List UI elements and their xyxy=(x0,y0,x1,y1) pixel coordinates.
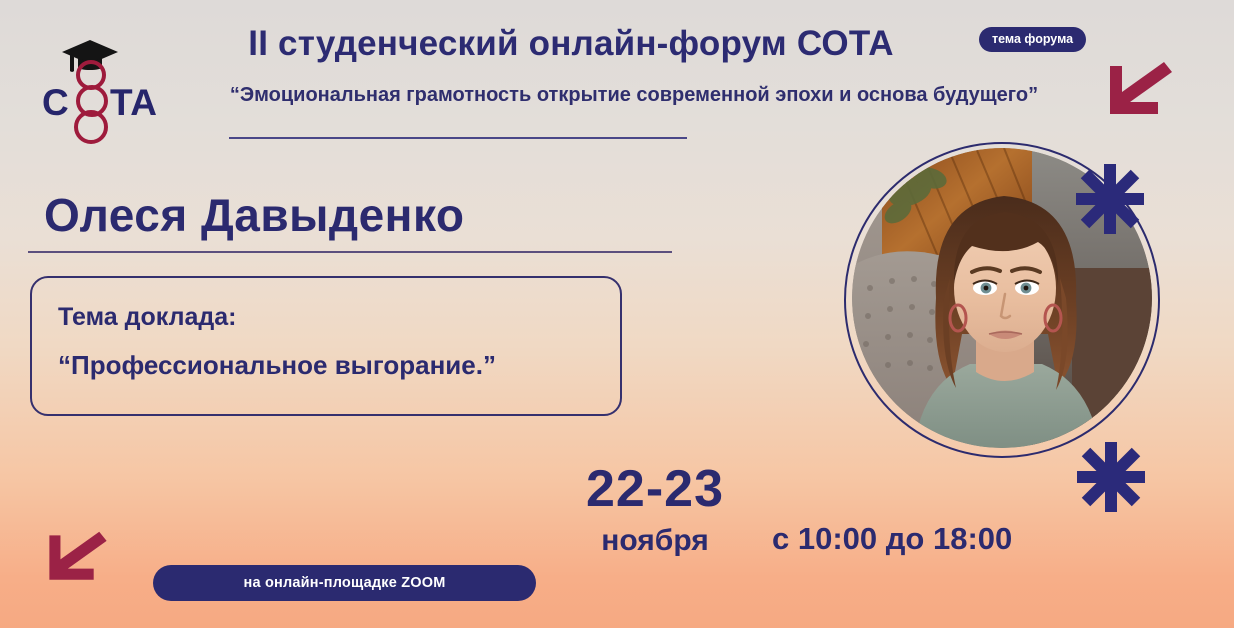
asterisk-icon-lower xyxy=(1073,438,1149,521)
talk-topic-label: Тема доклада: xyxy=(58,304,620,332)
asterisk-icon-upper xyxy=(1072,160,1148,243)
talk-topic-box: Тема доклада: “Профессиональное выгорани… xyxy=(30,276,622,416)
event-time: с 10:00 до 18:00 xyxy=(772,521,1012,557)
arrow-down-left-icon-bottom xyxy=(42,528,114,605)
speaker-divider xyxy=(28,251,672,253)
forum-title: II студенческий онлайн-форум СОТА xyxy=(176,24,966,64)
forum-topic-badge: тема форума xyxy=(979,27,1086,52)
speaker-name: Олеся Давыденко xyxy=(44,188,464,242)
event-month: ноября xyxy=(570,526,740,556)
talk-topic-value: “Профессиональное выгорание.” xyxy=(58,351,620,380)
logo-ring-bottom xyxy=(74,110,108,144)
event-date: 22-23 xyxy=(570,463,740,515)
event-date-block: 22-23 ноября xyxy=(570,463,740,556)
logo-letter-ta: ТА xyxy=(110,84,157,121)
arrow-down-left-icon-top xyxy=(1102,58,1180,141)
forum-subtitle: “Эмоциональная грамотность открытие совр… xyxy=(174,84,1094,107)
sota-logo: С ТА xyxy=(38,32,174,140)
header-divider xyxy=(229,137,687,139)
logo-letter-c: С xyxy=(42,84,69,121)
forum-announcement-banner: С ТА II студенческий онлайн-форум СОТА “… xyxy=(0,0,1234,628)
online-platform-pill[interactable]: на онлайн-площадке ZOOM xyxy=(153,565,536,601)
